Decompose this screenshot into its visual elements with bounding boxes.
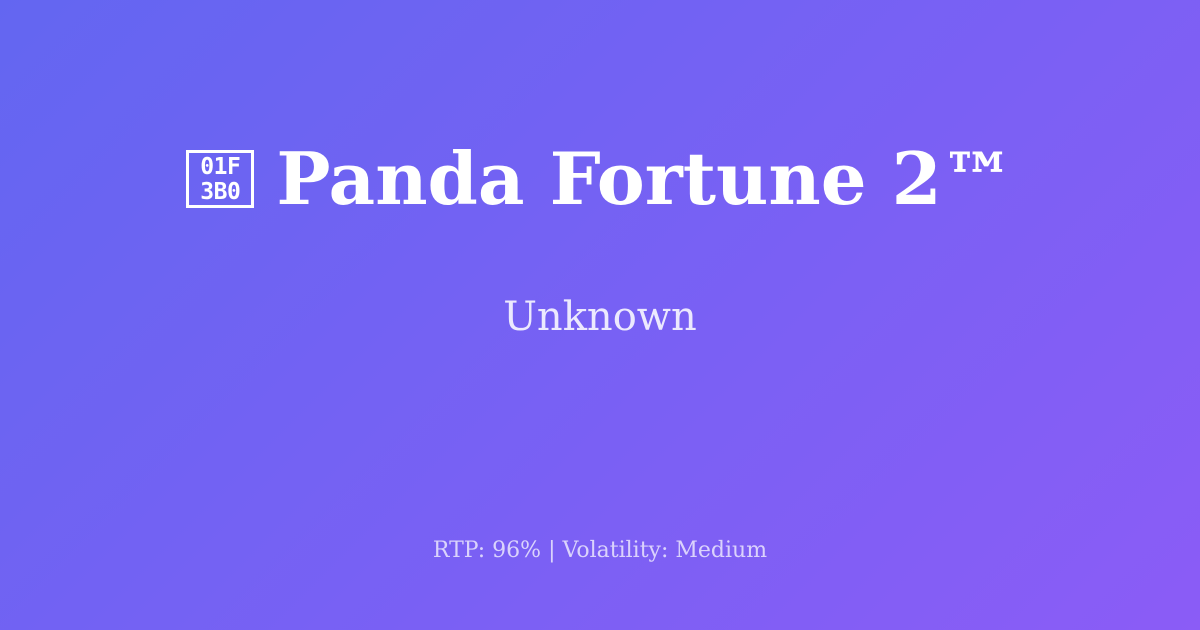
card-main-content: 01F 3B0 Panda Fortune 2™ Unknown — [0, 0, 1200, 480]
og-preview-card: 01F 3B0 Panda Fortune 2™ Unknown RTP: 96… — [0, 0, 1200, 630]
page-title: Panda Fortune 2™ — [276, 143, 1013, 215]
card-subtitle: Unknown — [503, 215, 697, 337]
title-row: 01F 3B0 Panda Fortune 2™ — [186, 143, 1013, 215]
slot-machine-icon-hex-top: 01F — [200, 155, 240, 180]
card-footer: RTP: 96% | Volatility: Medium — [0, 540, 1200, 562]
game-meta-line: RTP: 96% | Volatility: Medium — [433, 540, 767, 562]
slot-machine-icon-hex-bottom: 3B0 — [200, 180, 240, 205]
slot-machine-icon: 01F 3B0 — [186, 150, 254, 208]
